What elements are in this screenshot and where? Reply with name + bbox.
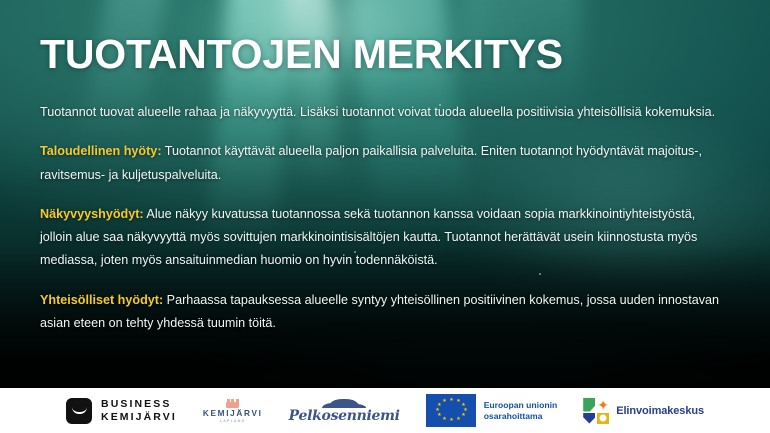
paragraph-nakyvyyshyodyt-lead: Näkyvyyshyödyt:	[40, 207, 144, 221]
logo-european-union-line1: Euroopan unionin	[484, 400, 558, 411]
logo-kemijarvi-sub: LAPLAND	[220, 419, 245, 423]
logo-elinvoimakeskus-text: Elinvoimakeskus	[616, 405, 704, 417]
paragraph-intro: Tuotannot tuovat alueelle rahaa ja näkyv…	[40, 101, 730, 124]
logo-business-kemijarvi-line1: BUSINESS	[101, 398, 177, 410]
crown-icon	[226, 399, 239, 408]
logo-elinvoimakeskus: ✦ Elinvoimakeskus	[583, 398, 704, 424]
page-title: TUOTANTOJEN MERKITYS	[40, 34, 730, 75]
paragraph-taloudellinen-hyoty: Taloudellinen hyöty: Tuotannot käyttävät…	[40, 140, 730, 187]
hills-icon	[322, 397, 366, 408]
logo-european-union-text: Euroopan unionin osarahoittama	[484, 400, 558, 421]
logo-european-union-line2: osarahoittama	[484, 411, 558, 422]
paragraph-taloudellinen-hyoty-lead: Taloudellinen hyöty:	[40, 144, 162, 158]
slide-content: TUOTANTOJEN MERKITYS Tuotannot tuovat al…	[0, 0, 770, 335]
four-squares-icon: ✦	[583, 398, 609, 424]
paragraph-yhteisolliset-hyodyt: Yhteisölliset hyödyt: Parhaassa tapaukse…	[40, 289, 730, 336]
logo-business-kemijarvi-text: BUSINESS KEMIJÄRVI	[101, 398, 177, 423]
eu-flag-icon: ★ ★ ★ ★ ★ ★ ★ ★ ★ ★ ★ ★	[426, 394, 476, 427]
footer-logo-bar: BUSINESS KEMIJÄRVI KEMIJÄRVI LAPLAND Pel…	[0, 388, 770, 433]
logo-pelkosenniemi: Pelkosenniemi	[289, 397, 400, 424]
paragraph-yhteisolliset-hyodyt-lead: Yhteisölliset hyödyt:	[40, 293, 163, 307]
logo-pelkosenniemi-name: Pelkosenniemi	[289, 408, 400, 424]
logo-business-kemijarvi-line2: KEMIJÄRVI	[101, 411, 177, 423]
smile-icon	[66, 398, 92, 424]
logo-kemijarvi-name: KEMIJÄRVI	[203, 409, 263, 418]
logo-kemijarvi-lapland: KEMIJÄRVI LAPLAND	[203, 399, 263, 423]
presentation-slide: TUOTANTOJEN MERKITYS Tuotannot tuovat al…	[0, 0, 770, 433]
paragraph-nakyvyyshyodyt: Näkyvyyshyödyt: Alue näkyy kuvatussa tuo…	[40, 203, 730, 273]
logo-business-kemijarvi: BUSINESS KEMIJÄRVI	[66, 398, 177, 424]
logo-european-union: ★ ★ ★ ★ ★ ★ ★ ★ ★ ★ ★ ★ Euroopan unionin…	[426, 394, 558, 427]
paragraph-intro-body: Tuotannot tuovat alueelle rahaa ja näkyv…	[40, 105, 715, 119]
